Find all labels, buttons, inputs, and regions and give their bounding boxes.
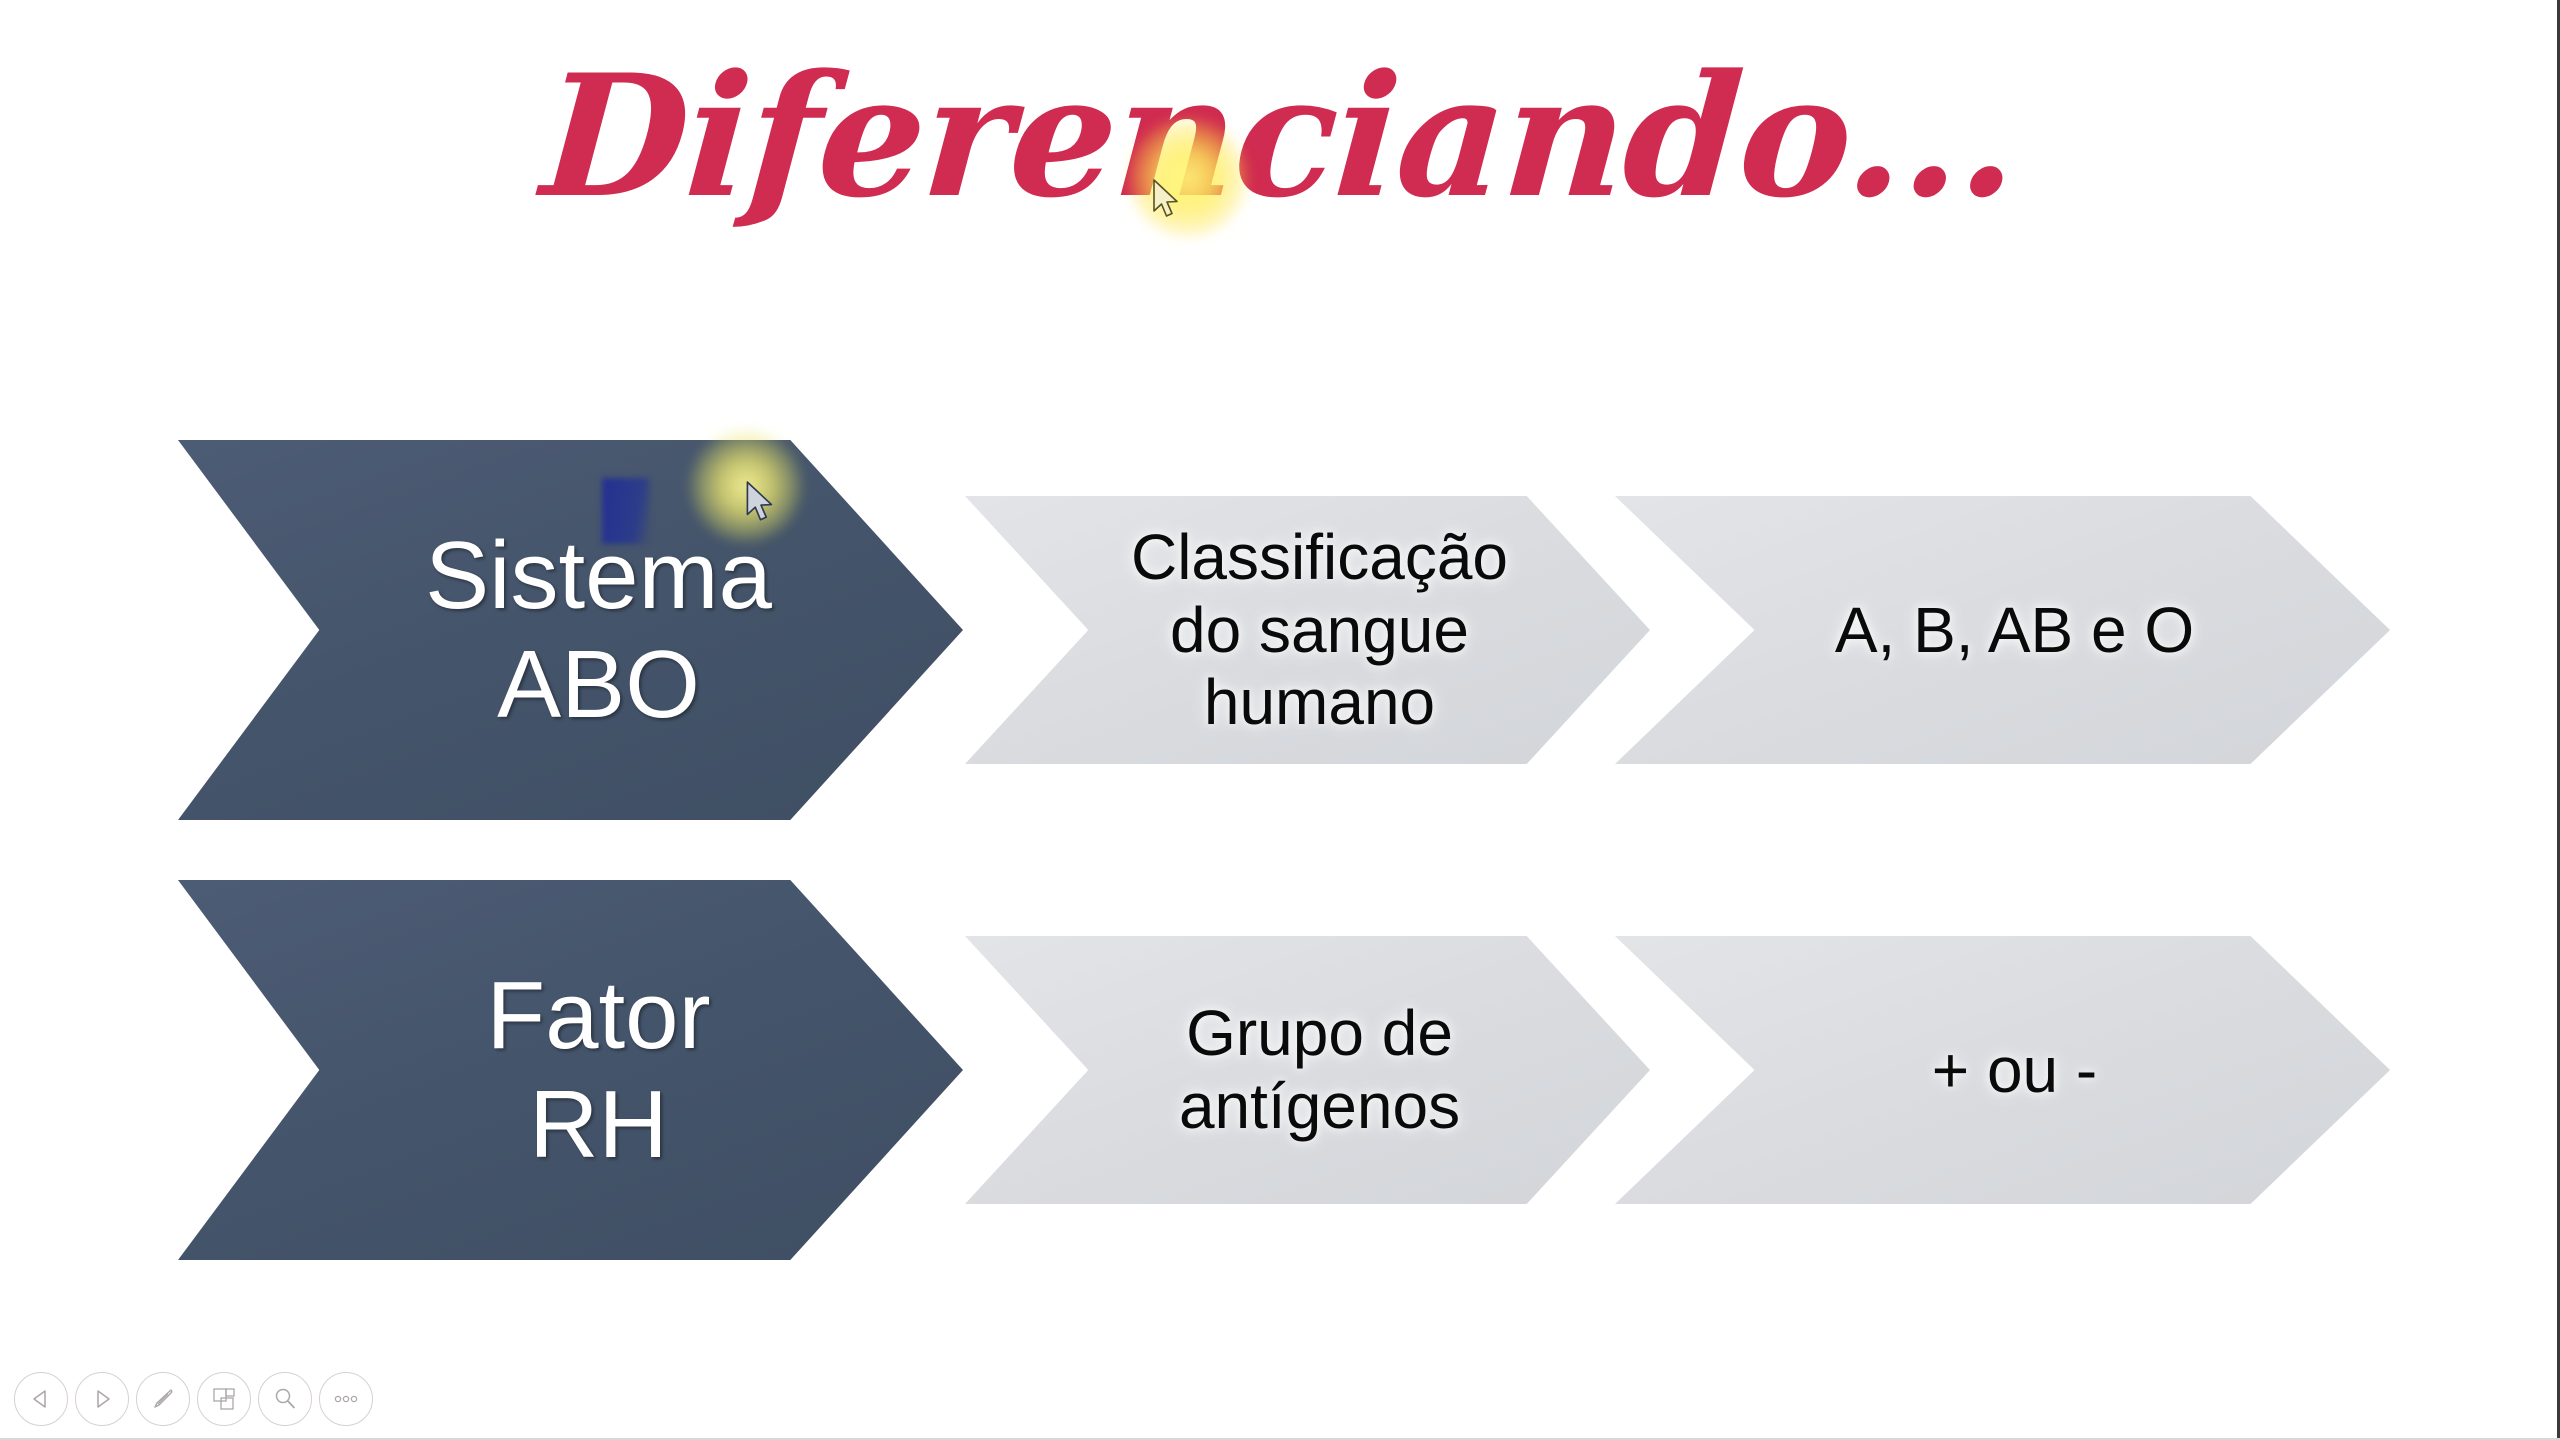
chevron-diagram: Sistema ABO Classificação do sangue huma… bbox=[0, 430, 2560, 1250]
grid-slides-icon bbox=[211, 1386, 237, 1412]
previous-slide-button[interactable] bbox=[14, 1372, 68, 1426]
triangle-right-icon bbox=[91, 1388, 113, 1410]
chevron-label: + ou - bbox=[1928, 1034, 2101, 1107]
chevron-row: Fator RH Grupo de antígenos + ou - bbox=[0, 880, 2560, 1260]
chevron-label: Grupo de antígenos bbox=[1175, 997, 1464, 1143]
chevron-step-classificacao: Classificação do sangue humano bbox=[965, 496, 1650, 764]
next-slide-button[interactable] bbox=[75, 1372, 129, 1426]
chevron-row: Sistema ABO Classificação do sangue huma… bbox=[0, 440, 2560, 820]
magnifier-icon bbox=[272, 1386, 298, 1412]
presenter-toolbar[interactable] bbox=[8, 1368, 379, 1430]
slide-overview-button[interactable] bbox=[197, 1372, 251, 1426]
more-options-button[interactable] bbox=[319, 1372, 373, 1426]
chevron-step-positivo-negativo: + ou - bbox=[1615, 936, 2390, 1204]
zoom-slide-button[interactable] bbox=[258, 1372, 312, 1426]
chevron-lead-sistema-abo: Sistema ABO bbox=[178, 440, 963, 820]
slide-stage[interactable]: Diferenciando... Sistema ABO Classificaç… bbox=[0, 0, 2560, 1440]
chevron-label: Classificação do sangue humano bbox=[1127, 521, 1512, 740]
chevron-lead-fator-rh: Fator RH bbox=[178, 880, 963, 1260]
ellipsis-icon bbox=[333, 1394, 359, 1404]
chevron-label: Sistema ABO bbox=[421, 521, 776, 740]
slide-title: Diferenciando... bbox=[0, 46, 2560, 227]
chevron-step-grupo-antigenos: Grupo de antígenos bbox=[965, 936, 1650, 1204]
pen-icon bbox=[150, 1386, 176, 1412]
pen-tools-button[interactable] bbox=[136, 1372, 190, 1426]
chevron-label: Fator RH bbox=[482, 961, 714, 1180]
chevron-label: A, B, AB e O bbox=[1831, 594, 2198, 667]
chevron-step-tipos-sanguineos: A, B, AB e O bbox=[1615, 496, 2390, 764]
triangle-left-icon bbox=[30, 1388, 52, 1410]
